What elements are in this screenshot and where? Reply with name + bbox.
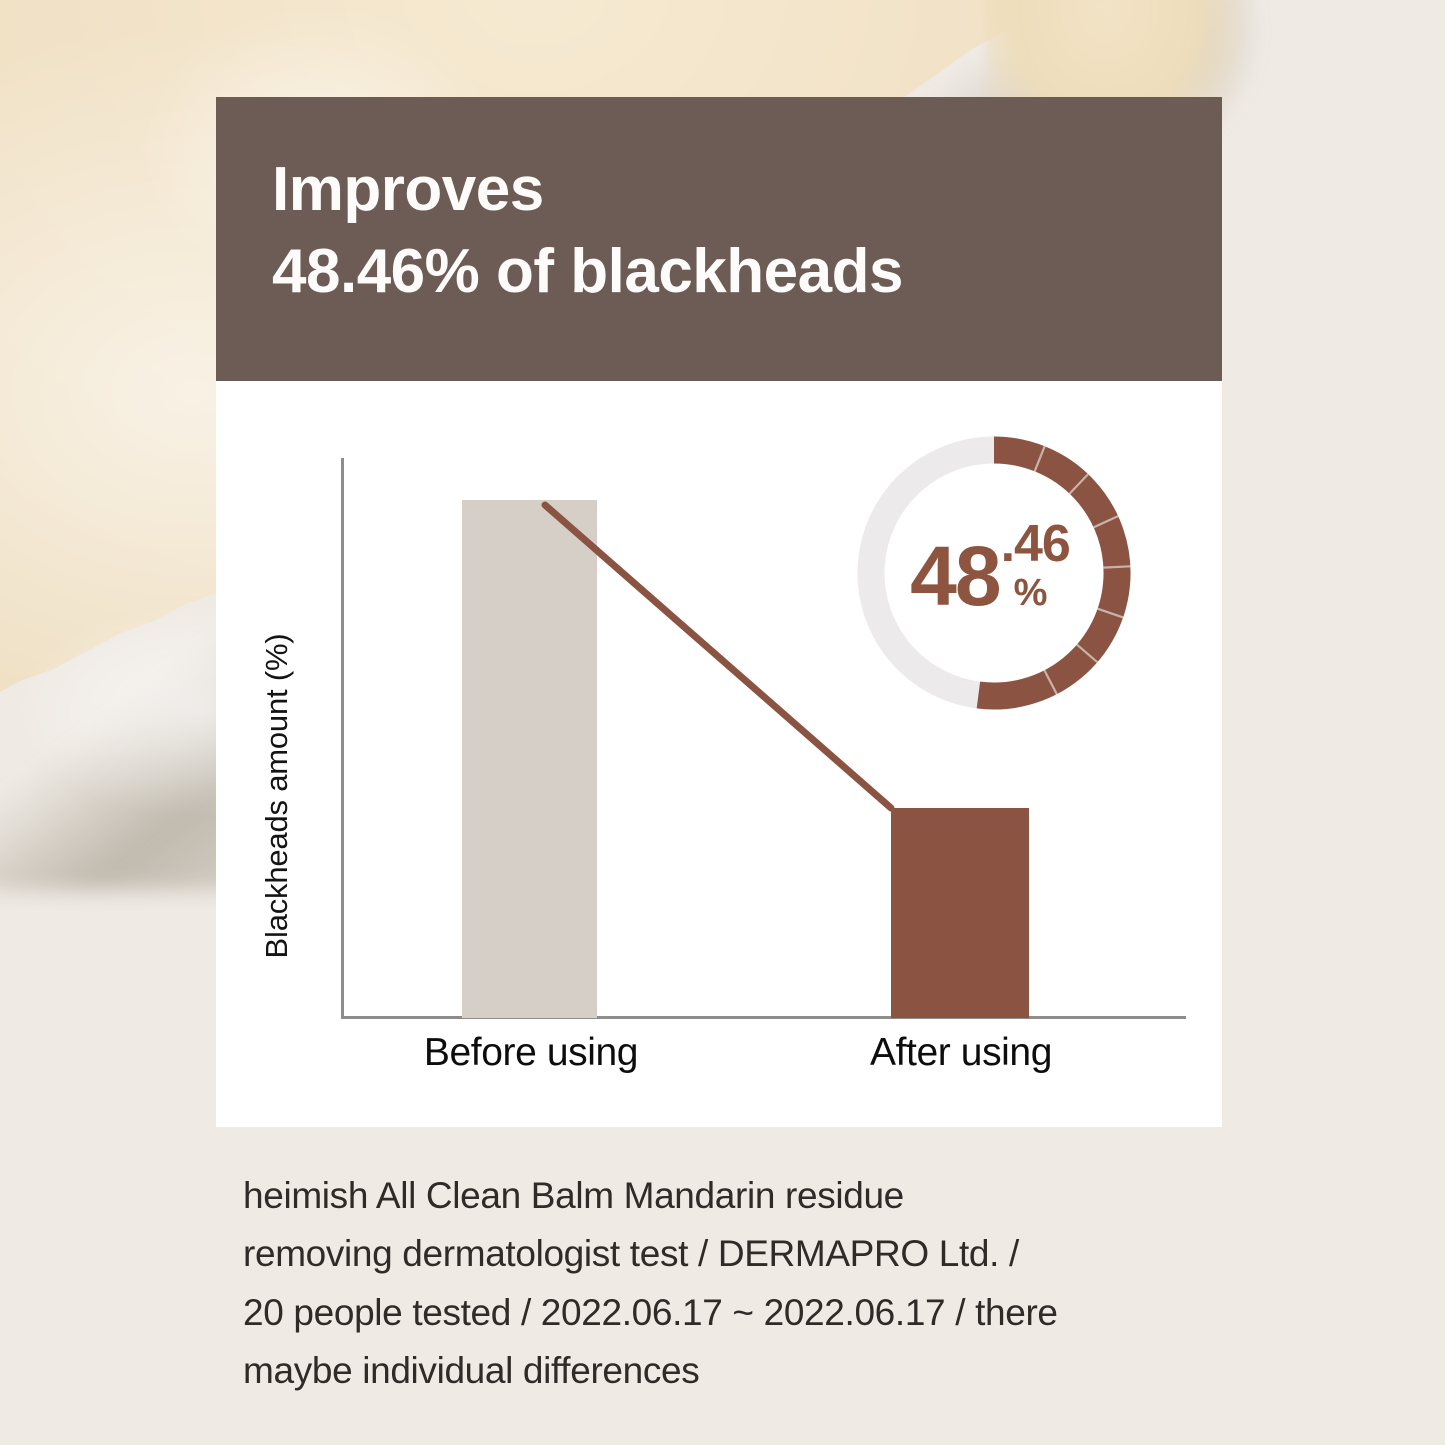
headline-banner: Improves 48.46% of blackheads (216, 97, 1222, 381)
donut-gauge: 48 .46 % (857, 436, 1131, 710)
caption-line-4: maybe individual differences (243, 1342, 1223, 1400)
x-tick-label-after: After using (811, 1031, 1111, 1075)
caption-line-3: 20 people tested / 2022.06.17 ~ 2022.06.… (243, 1284, 1223, 1342)
headline-line-1: Improves (272, 149, 903, 231)
caption-line-1: heimish All Clean Balm Mandarin residue (243, 1167, 1223, 1225)
x-tick-label-before: Before using (371, 1031, 691, 1075)
test-method-caption: heimish All Clean Balm Mandarin residue … (243, 1167, 1223, 1401)
donut-gauge-value: 48 .46 % (857, 436, 1131, 710)
bar-chart: Blackheads amount (%) Before using After… (216, 381, 1222, 1127)
donut-percent-symbol: % (1014, 574, 1048, 612)
caption-line-2: removing dermatologist test / DERMAPRO L… (243, 1225, 1223, 1283)
chart-card: Blackheads amount (%) Before using After… (216, 381, 1222, 1127)
headline-text: Improves 48.46% of blackheads (272, 149, 903, 313)
donut-value-fraction: .46 (1001, 522, 1070, 567)
headline-line-2: 48.46% of blackheads (272, 231, 903, 313)
donut-value-integer: 48 (910, 541, 999, 612)
